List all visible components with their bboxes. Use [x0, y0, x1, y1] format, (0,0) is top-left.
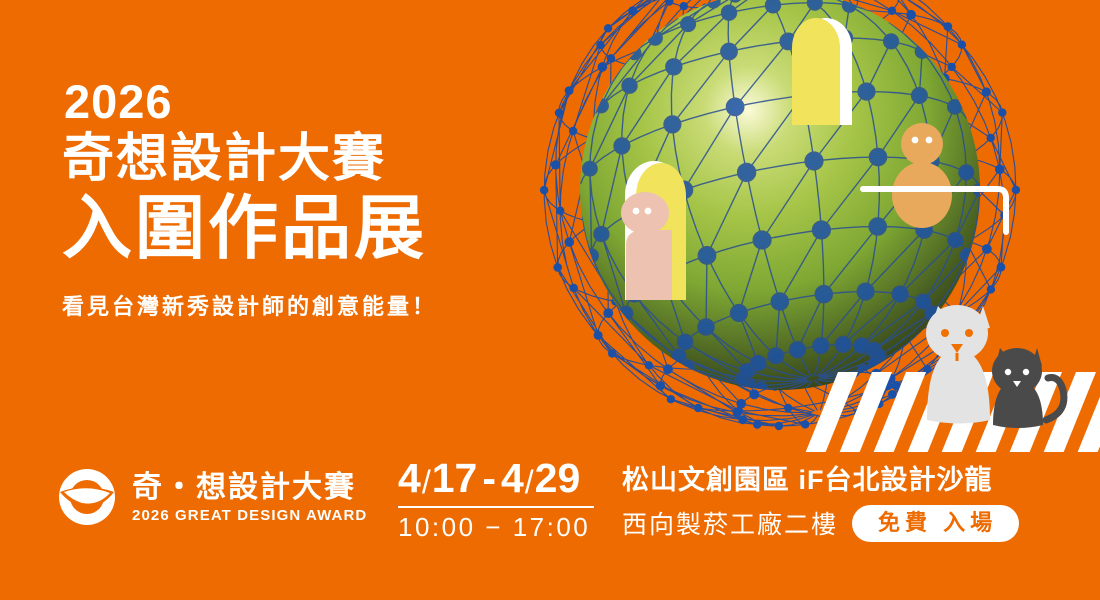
date-start-day: 17 — [432, 458, 478, 499]
date-divider — [398, 506, 594, 508]
award-logo: 奇・想設計大賽 2026 GREAT DESIGN AWARD — [56, 466, 367, 528]
date-end-month: 4 — [501, 458, 524, 499]
venue-block: 松山文創園區 iF台北設計沙龍 西向製菸工廠二樓 免費 入場 — [622, 466, 1019, 542]
year-label: 2026 — [64, 78, 437, 125]
venue-detail-row: 西向製菸工廠二樓 免費 入場 — [622, 505, 1019, 542]
event-time: 10:00 − 17:00 — [398, 514, 594, 540]
event-banner: 2026 奇想設計大賽 入圍作品展 看見台灣新秀設計師的創意能量！ 奇・想設計大… — [0, 0, 1100, 600]
title-line-2: 入圍作品展 — [62, 191, 437, 267]
event-date-block: 4 / 17 - 4 / 29 10:00 − 17:00 — [398, 458, 594, 540]
headline-subtitle: 看見台灣新秀設計師的創意能量！ — [62, 289, 437, 321]
award-logo-chinese: 奇・想設計大賽 — [132, 471, 367, 504]
date-slash-start: / — [421, 466, 432, 498]
award-logo-text: 奇・想設計大賽 2026 GREAT DESIGN AWARD — [132, 471, 367, 524]
date-end-day: 29 — [535, 458, 581, 499]
event-date-range: 4 / 17 - 4 / 29 — [398, 458, 594, 499]
venue-address: 西向製菸工廠二樓 — [622, 505, 838, 541]
date-start-month: 4 — [398, 458, 421, 499]
venue-name: 松山文創園區 iF台北設計沙龍 — [622, 466, 1019, 496]
award-logo-mark-icon — [56, 466, 118, 528]
date-range-dash: - — [477, 458, 501, 499]
headline-block: 2026 奇想設計大賽 入圍作品展 看見台灣新秀設計師的創意能量！ — [62, 78, 437, 321]
free-entry-badge: 免費 入場 — [852, 505, 1019, 542]
pink-figure — [621, 192, 672, 300]
date-slash-end: / — [524, 466, 535, 498]
award-logo-english: 2026 GREAT DESIGN AWARD — [132, 507, 367, 524]
title-line-1: 奇想設計大賽 — [62, 131, 437, 187]
arch-doorway-top — [792, 18, 852, 125]
